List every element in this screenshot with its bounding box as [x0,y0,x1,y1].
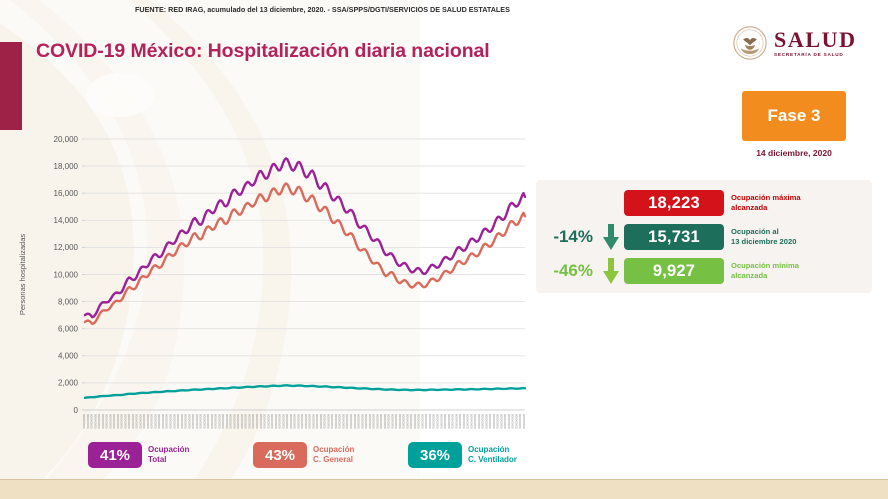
y-axis-label: Personas hospitalizadas [18,234,27,315]
legend-item: 43%OcupaciónC. General [253,442,354,468]
legend-label-line2: C. General [313,455,354,465]
legend-item: 41%OcupaciónTotal [88,442,189,468]
series-line-1 [85,158,525,317]
stat-row: -14%15,731Ocupación al13 diciembre 2020 [536,222,872,252]
series-line-3 [85,385,525,397]
y-axis-tick-label: 4,000 [58,352,79,361]
legend-percent-pill: 43% [253,442,307,468]
legend-label-line2: C. Ventilador [468,455,517,465]
y-axis-tick-label: 2,000 [58,379,79,388]
page-title: COVID-19 México: Hospitalización diaria … [36,40,490,63]
y-axis-tick-label: 6,000 [58,325,79,334]
stat-row: 18,223Ocupación máximaalcanzada [536,188,872,218]
y-axis-tick-label: 10,000 [54,270,79,279]
footer-source: FUENTE: RED IRAG, acumulado del 13 dicie… [135,5,510,14]
legend-item: 36%OcupaciónC. Ventilador [408,442,517,468]
chart-container: Personas hospitalizadas 02,0004,0006,000… [0,120,540,440]
series-line-2 [85,184,525,324]
stat-description-line2: alcanzada [731,203,801,213]
stat-change-percent: -14% [536,227,598,247]
stat-description: Ocupación mínimaalcanzada [724,261,799,280]
stat-description-line2: 13 diciembre 2020 [731,237,796,247]
stat-value-pill: 18,223 [624,190,724,216]
slide-root: COVID-19 México: Hospitalización diaria … [0,0,888,499]
svg-text:00/00/0000: 00/00/0000 [522,414,526,429]
legend-label: OcupaciónTotal [142,445,189,466]
stat-description: Ocupación al13 diciembre 2020 [724,227,796,246]
stat-description: Ocupación máximaalcanzada [724,193,801,212]
stat-description-line1: Ocupación mínima [731,261,799,271]
stat-value-pill: 9,927 [624,258,724,284]
phase-badge: Fase 3 [742,91,846,141]
legend-label-line1: Ocupación [148,445,189,455]
stat-change-percent: -46% [536,261,598,281]
y-axis-tick-label: 12,000 [54,243,79,252]
salud-logo: SALUD SECRETARÍA DE SALUD [733,26,857,60]
y-axis-tick-label: 14,000 [54,216,79,225]
stat-description-line2: alcanzada [731,271,799,281]
salud-wordmark: SALUD [774,29,857,51]
eagle-seal-icon [733,26,767,60]
salud-subtitle: SECRETARÍA DE SALUD [774,53,857,58]
stats-panel: 18,223Ocupación máximaalcanzada-14%15,73… [536,180,872,293]
legend-label-line1: Ocupación [313,445,354,455]
stat-description-line1: Ocupación máxima [731,193,801,203]
legend-label-line1: Ocupación [468,445,517,455]
stat-description-line1: Ocupación al [731,227,796,237]
chart-legend: 41%OcupaciónTotal43%OcupaciónC. General3… [88,440,538,476]
legend-label: OcupaciónC. General [307,445,354,466]
stat-value-pill: 15,731 [624,224,724,250]
phase-date: 14 diciembre, 2020 [742,148,846,158]
down-arrow-icon [598,258,624,284]
y-axis-tick-label: 18,000 [54,162,79,171]
y-axis-tick-label: 0 [74,406,79,415]
down-arrow-icon [598,224,624,250]
legend-percent-pill: 36% [408,442,462,468]
left-accent-bar [0,42,22,130]
hospitalization-line-chart: 02,0004,0006,0008,00010,00012,00014,0001… [0,120,540,440]
stat-row: -46%9,927Ocupación mínimaalcanzada [536,256,872,286]
x-axis-tick-labels: 00/00/000000/00/000000/00/000000/00/0000… [82,414,526,429]
legend-label-line2: Total [148,455,189,465]
y-axis-tick-label: 8,000 [58,297,79,306]
y-axis-tick-label: 20,000 [54,135,79,144]
y-axis-tick-label: 16,000 [54,189,79,198]
footer-strip [0,479,888,499]
legend-label: OcupaciónC. Ventilador [462,445,517,466]
legend-percent-pill: 41% [88,442,142,468]
